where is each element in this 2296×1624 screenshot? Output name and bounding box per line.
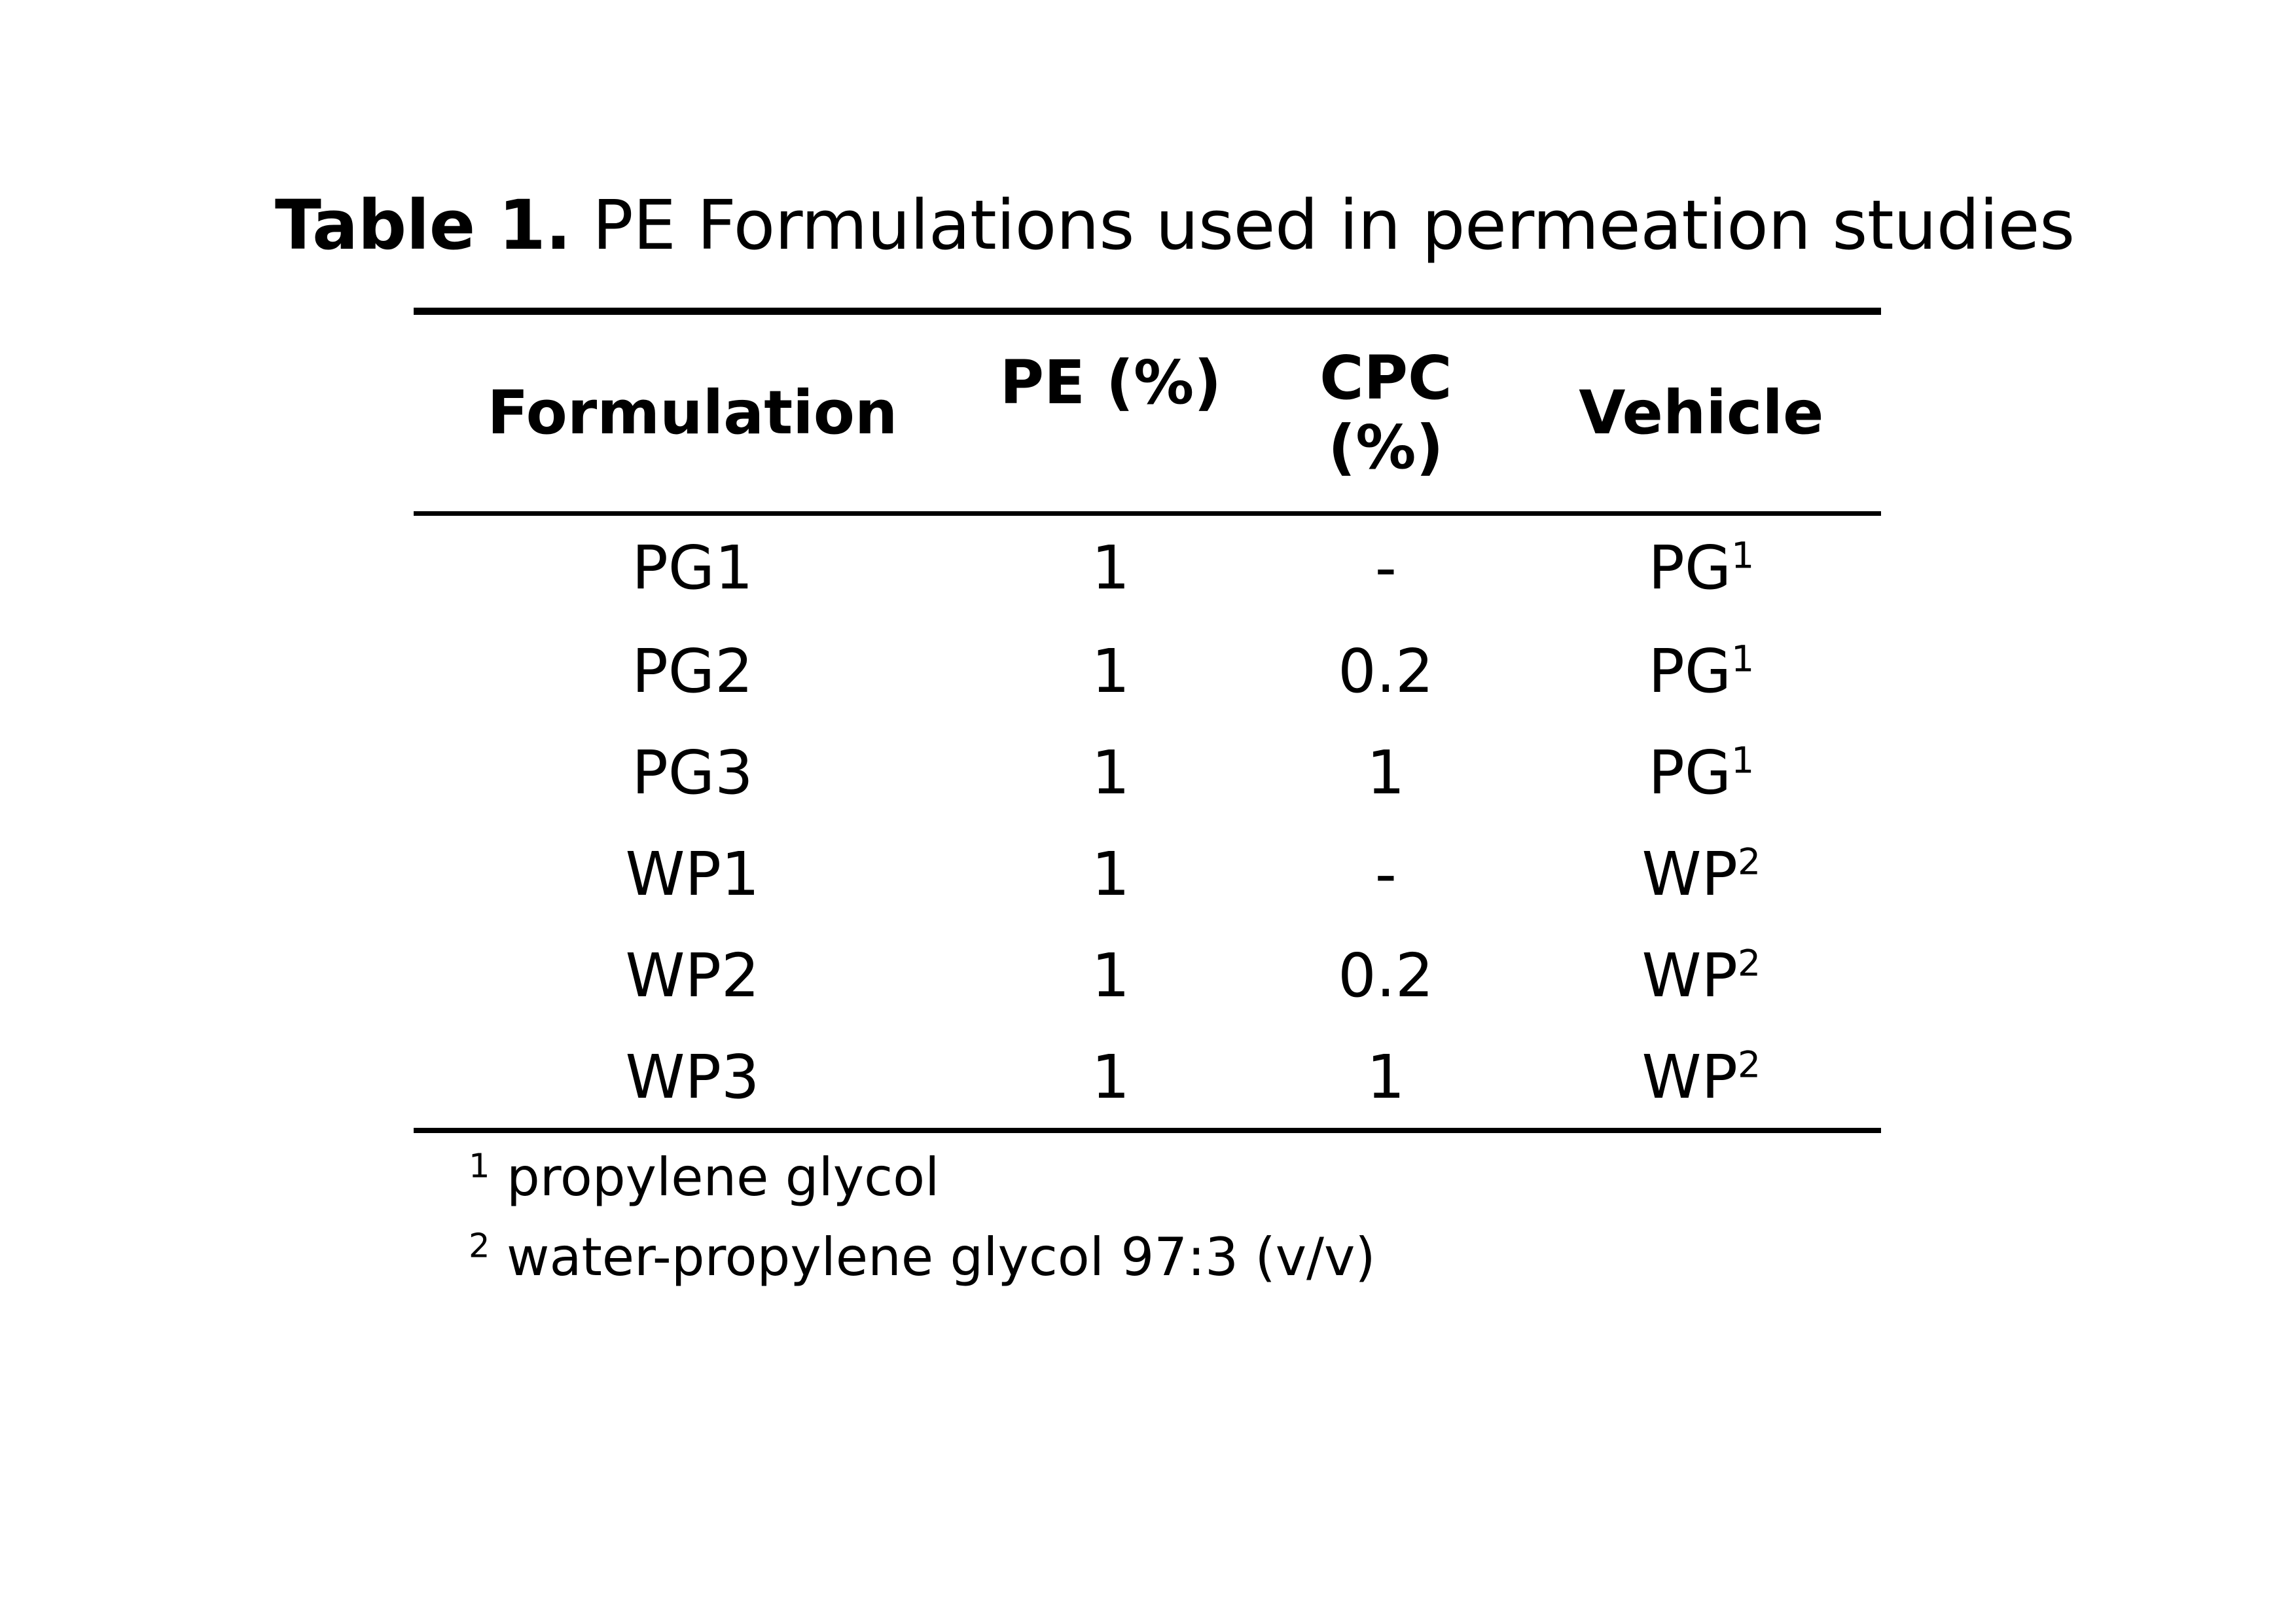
footnote-1: 1 propylene glycol xyxy=(469,1138,1376,1218)
cell-vehicle-text: PG xyxy=(1648,533,1731,603)
cell-pe: 1 xyxy=(971,516,1250,621)
table-caption-label: Table 1. xyxy=(275,185,571,265)
cell-formulation: WP1 xyxy=(414,823,971,925)
cell-vehicle-footnote-marker: 1 xyxy=(1731,535,1754,577)
cell-formulation: WP3 xyxy=(414,1026,971,1128)
cell-vehicle-text: WP xyxy=(1642,1042,1738,1112)
cell-vehicle-footnote-marker: 2 xyxy=(1738,841,1761,883)
table-row: WP1 1 - WP2 xyxy=(414,823,1881,925)
table-rule-header xyxy=(414,511,1881,516)
table-header-row: Formulation PE (%) CPC(%) Vehicle xyxy=(414,315,1881,511)
cell-vehicle: WP2 xyxy=(1522,925,1881,1026)
footnote-2: 2 water-propylene glycol 97:3 (v/v) xyxy=(469,1218,1376,1297)
cell-formulation: PG3 xyxy=(414,722,971,823)
column-header-pe: PE (%) xyxy=(971,315,1250,511)
table-head: Formulation PE (%) CPC(%) Vehicle xyxy=(414,315,1881,511)
cell-vehicle: PG1 xyxy=(1522,516,1881,621)
cell-cpc: - xyxy=(1250,516,1522,621)
cell-vehicle-footnote-marker: 1 xyxy=(1731,740,1754,782)
table-rule-top xyxy=(414,308,1881,315)
cell-pe: 1 xyxy=(971,925,1250,1026)
table-grid: Formulation PE (%) CPC(%) Vehicle xyxy=(414,315,1881,511)
column-header-pe-text: PE (%) xyxy=(971,349,1250,416)
footnote-2-marker: 2 xyxy=(469,1226,490,1265)
cell-cpc: 0.2 xyxy=(1250,621,1522,722)
table-row: WP2 1 0.2 WP2 xyxy=(414,925,1881,1026)
cell-vehicle: WP2 xyxy=(1522,1026,1881,1128)
column-header-cpc: CPC(%) xyxy=(1250,315,1522,511)
cell-cpc: 0.2 xyxy=(1250,925,1522,1026)
table-caption-text: PE Formulations used in permeation studi… xyxy=(571,185,2074,265)
cell-vehicle-text: WP xyxy=(1642,941,1738,1011)
footnote-1-marker: 1 xyxy=(469,1146,490,1185)
table-footnotes: 1 propylene glycol 2 water-propylene gly… xyxy=(469,1138,1376,1297)
cell-cpc: 1 xyxy=(1250,1026,1522,1128)
column-header-formulation: Formulation xyxy=(414,315,971,511)
table-row: PG3 1 1 PG1 xyxy=(414,722,1881,823)
cell-vehicle-text: WP xyxy=(1642,839,1738,909)
cell-cpc: 1 xyxy=(1250,722,1522,823)
table-row: PG2 1 0.2 PG1 xyxy=(414,621,1881,722)
column-header-vehicle: Vehicle xyxy=(1522,315,1881,511)
cell-cpc: - xyxy=(1250,823,1522,925)
cell-vehicle-footnote-marker: 2 xyxy=(1738,943,1761,984)
table-body-grid: PG1 1 - PG1 PG2 1 0.2 PG1 PG3 1 1 PG1 xyxy=(414,516,1881,1128)
cell-pe: 1 xyxy=(971,621,1250,722)
table-rule-bottom xyxy=(414,1128,1881,1133)
cell-vehicle-text: PG xyxy=(1648,738,1731,808)
cell-vehicle-footnote-marker: 2 xyxy=(1738,1044,1761,1086)
formulations-table: Formulation PE (%) CPC(%) Vehicle PG1 1 … xyxy=(414,308,1881,1133)
cell-formulation: PG1 xyxy=(414,516,971,621)
column-header-cpc-line1: CPC xyxy=(1250,344,1522,413)
cell-pe: 1 xyxy=(971,1026,1250,1128)
table-row: PG1 1 - PG1 xyxy=(414,516,1881,621)
table-body: PG1 1 - PG1 PG2 1 0.2 PG1 PG3 1 1 PG1 xyxy=(414,516,1881,1128)
cell-vehicle: PG1 xyxy=(1522,722,1881,823)
cell-vehicle: WP2 xyxy=(1522,823,1881,925)
table-row: WP3 1 1 WP2 xyxy=(414,1026,1881,1128)
cell-vehicle-footnote-marker: 1 xyxy=(1731,638,1754,680)
cell-vehicle-text: PG xyxy=(1648,636,1731,706)
footnote-2-text: water-propylene glycol 97:3 (v/v) xyxy=(490,1227,1376,1288)
column-header-cpc-line2: (%) xyxy=(1250,413,1522,482)
cell-formulation: WP2 xyxy=(414,925,971,1026)
table-caption: Table 1. PE Formulations used in permeat… xyxy=(275,189,2042,262)
cell-pe: 1 xyxy=(971,722,1250,823)
cell-pe: 1 xyxy=(971,823,1250,925)
footnote-1-text: propylene glycol xyxy=(490,1147,940,1208)
cell-vehicle: PG1 xyxy=(1522,621,1881,722)
document-page: Table 1. PE Formulations used in permeat… xyxy=(0,0,2296,1624)
cell-formulation: PG2 xyxy=(414,621,971,722)
